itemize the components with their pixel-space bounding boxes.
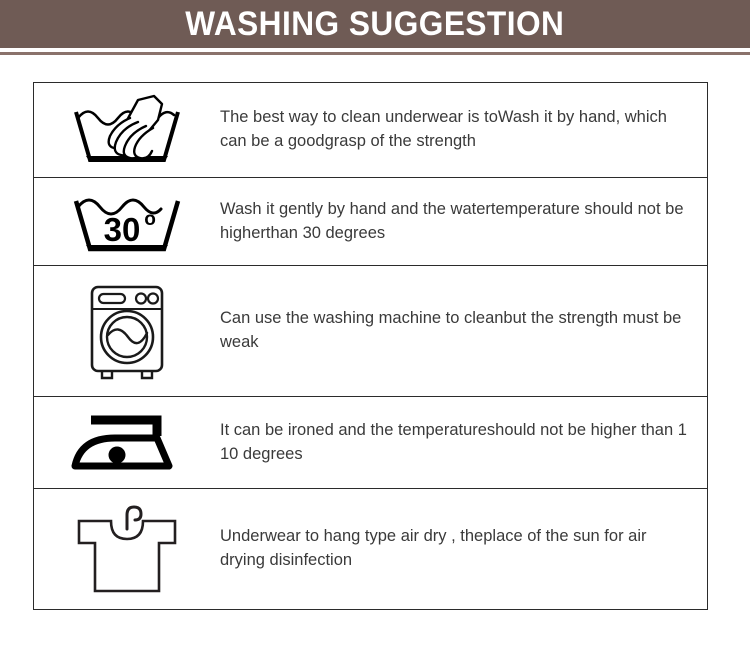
instruction-text: Wash it gently by hand and the watertemp…	[220, 198, 691, 246]
instruction-text: Can use the washing machine to cleanbut …	[220, 307, 691, 355]
iron-icon	[65, 410, 189, 476]
icon-cell: 30 o	[34, 187, 220, 257]
icon-cell	[34, 410, 220, 476]
text-cell: It can be ironed and the temperatureshou…	[220, 419, 707, 467]
icon-cell	[34, 92, 220, 168]
icon-cell	[34, 499, 220, 599]
header-divider	[0, 52, 750, 55]
text-cell: The best way to clean underwear is toWas…	[220, 106, 707, 154]
page-title: WASHING SUGGESTION	[185, 7, 564, 41]
care-instructions-table: The best way to clean underwear is toWas…	[33, 82, 708, 610]
table-row: It can be ironed and the temperatureshou…	[34, 397, 707, 489]
table-row: 30 o Wash it gently by hand and the wate…	[34, 178, 707, 266]
text-cell: Wash it gently by hand and the watertemp…	[220, 198, 707, 246]
text-cell: Can use the washing machine to cleanbut …	[220, 307, 707, 355]
instruction-text: The best way to clean underwear is toWas…	[220, 106, 691, 154]
table-row: The best way to clean underwear is toWas…	[34, 83, 707, 178]
icon-cell	[34, 279, 220, 383]
instruction-text: It can be ironed and the temperatureshou…	[220, 419, 691, 467]
table-row: Underwear to hang type air dry , theplac…	[34, 489, 707, 609]
hand-wash-icon	[62, 92, 192, 168]
hang-dry-shirt-icon	[71, 499, 183, 599]
degree-symbol: o	[144, 209, 156, 230]
wash-temperature-value: 30	[104, 211, 141, 248]
washing-machine-icon	[75, 279, 179, 383]
text-cell: Underwear to hang type air dry , theplac…	[220, 525, 707, 573]
header-bar: WASHING SUGGESTION	[0, 0, 750, 48]
table-row: Can use the washing machine to cleanbut …	[34, 266, 707, 397]
instruction-text: Underwear to hang type air dry , theplac…	[220, 525, 691, 573]
wash-30-degrees-icon: 30 o	[62, 187, 192, 257]
